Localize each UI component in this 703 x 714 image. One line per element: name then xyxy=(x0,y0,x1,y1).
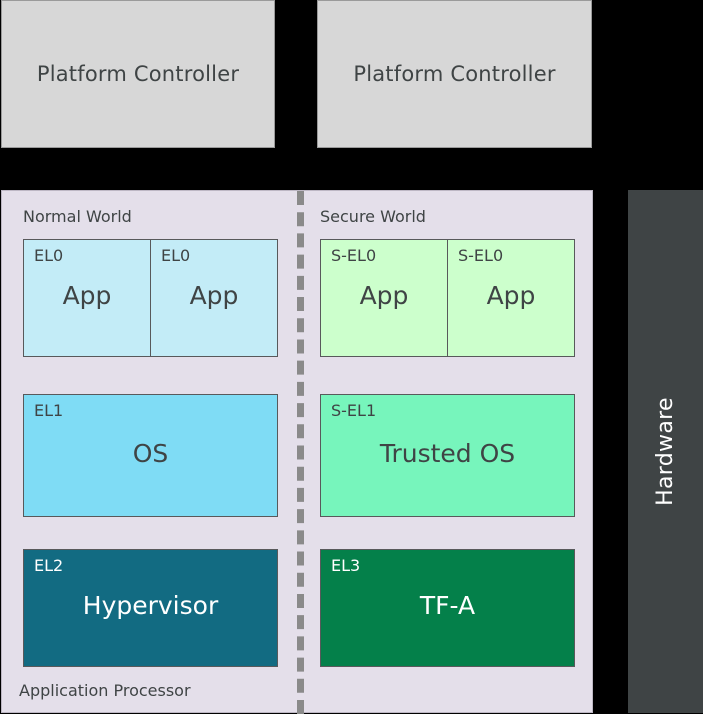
secure-world-app-box-2: S-EL0 App xyxy=(448,239,575,357)
world-divider-dashed-line xyxy=(297,191,304,714)
normal-world-os-name: OS xyxy=(24,439,277,468)
normal-world-hypervisor-name: Hypervisor xyxy=(24,591,277,620)
secure-world-app-box-1: S-EL0 App xyxy=(320,239,448,357)
normal-world-os-exception-level: EL1 xyxy=(34,401,63,420)
normal-world-app-row: EL0 App EL0 App xyxy=(23,239,278,357)
normal-world-app-1-exception-level: EL0 xyxy=(34,246,63,265)
application-processor-label: Application Processor xyxy=(19,681,191,700)
normal-world-app-box-1: EL0 App xyxy=(23,239,151,357)
normal-world-app-2-name: App xyxy=(151,281,277,310)
hardware-bar: Hardware xyxy=(628,190,703,713)
platform-controller-left: Platform Controller xyxy=(1,0,275,148)
secure-world-tfa-name: TF-A xyxy=(321,591,574,620)
secure-world-tfa-box: EL3 TF-A xyxy=(320,549,575,667)
normal-world-hypervisor-box: EL2 Hypervisor xyxy=(23,549,278,667)
secure-world-os-name: Trusted OS xyxy=(321,439,574,468)
normal-world-app-1-name: App xyxy=(24,281,150,310)
hardware-label: Hardware xyxy=(653,397,678,506)
platform-controller-right: Platform Controller xyxy=(317,0,592,148)
secure-world-app-1-exception-level: S-EL0 xyxy=(331,246,376,265)
normal-world-app-2-exception-level: EL0 xyxy=(161,246,190,265)
secure-world-os-box: S-EL1 Trusted OS xyxy=(320,394,575,517)
secure-world-app-2-exception-level: S-EL0 xyxy=(458,246,503,265)
secure-world-app-1-name: App xyxy=(321,281,447,310)
normal-world-os-box: EL1 OS xyxy=(23,394,278,517)
platform-controller-left-label: Platform Controller xyxy=(37,62,239,86)
normal-world-hypervisor-exception-level: EL2 xyxy=(34,556,63,575)
application-processor-panel: Normal World Secure World EL0 App EL0 Ap… xyxy=(1,190,593,713)
secure-world-app-2-name: App xyxy=(448,281,574,310)
secure-world-os-exception-level: S-EL1 xyxy=(331,401,376,420)
secure-world-tfa-exception-level: EL3 xyxy=(331,556,360,575)
secure-world-app-row: S-EL0 App S-EL0 App xyxy=(320,239,575,357)
platform-controller-right-label: Platform Controller xyxy=(353,62,555,86)
normal-world-app-box-2: EL0 App xyxy=(151,239,278,357)
secure-world-title: Secure World xyxy=(320,207,426,226)
normal-world-title: Normal World xyxy=(23,207,132,226)
